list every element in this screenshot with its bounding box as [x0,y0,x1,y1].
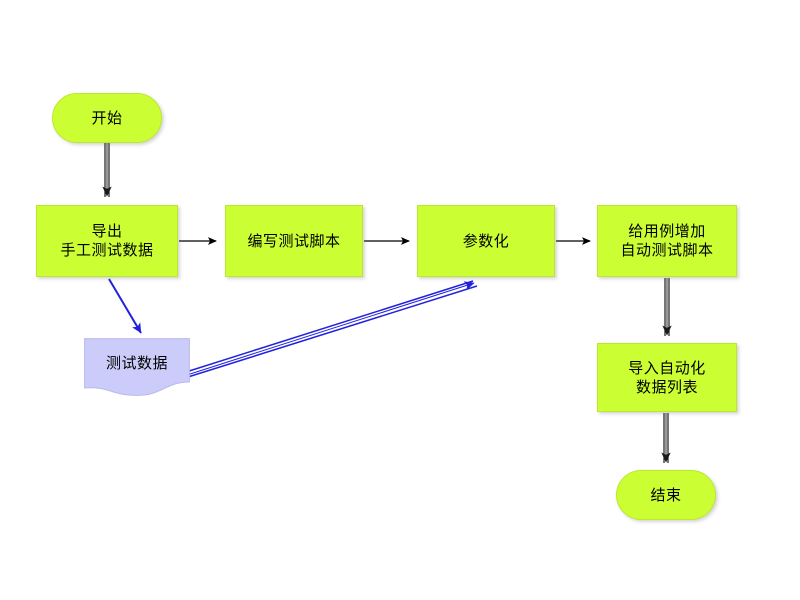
node-export-manual-test-data[interactable]: 导出 手工测试数据 [36,205,178,277]
node-add-auto-script-to-case[interactable]: 给用例增加 自动测试脚本 [597,205,737,277]
node-start[interactable]: 开始 [52,93,162,143]
edge-export-to-testdata [109,279,141,333]
node-parameterize-label: 参数化 [463,232,510,251]
node-parameterize[interactable]: 参数化 [417,205,555,277]
node-write-test-script[interactable]: 编写测试脚本 [225,205,363,277]
node-import-automation-data-list[interactable]: 导入自动化 数据列表 [597,343,737,412]
node-end-label: 结束 [650,486,681,505]
edge-addcase-to-import [665,278,669,336]
edge-testdata-to-param [186,281,477,377]
edge-import-to-end [664,413,668,463]
edge-start-to-export [105,143,109,197]
node-test-data-document-label: 测试数据 [106,354,168,373]
node-export-manual-test-data-label: 导出 手工测试数据 [60,222,153,260]
node-start-label: 开始 [91,109,122,128]
node-add-auto-script-to-case-label: 给用例增加 自动测试脚本 [620,222,713,260]
node-end[interactable]: 结束 [616,470,716,520]
node-import-automation-data-list-label: 导入自动化 数据列表 [628,359,706,397]
flowchart-canvas: 开始 导出 手工测试数据 编写测试脚本 参数化 给用例增加 自动测试脚本 测试数… [0,0,800,600]
node-write-test-script-label: 编写测试脚本 [247,232,340,251]
node-test-data-document[interactable]: 测试数据 [84,338,190,396]
